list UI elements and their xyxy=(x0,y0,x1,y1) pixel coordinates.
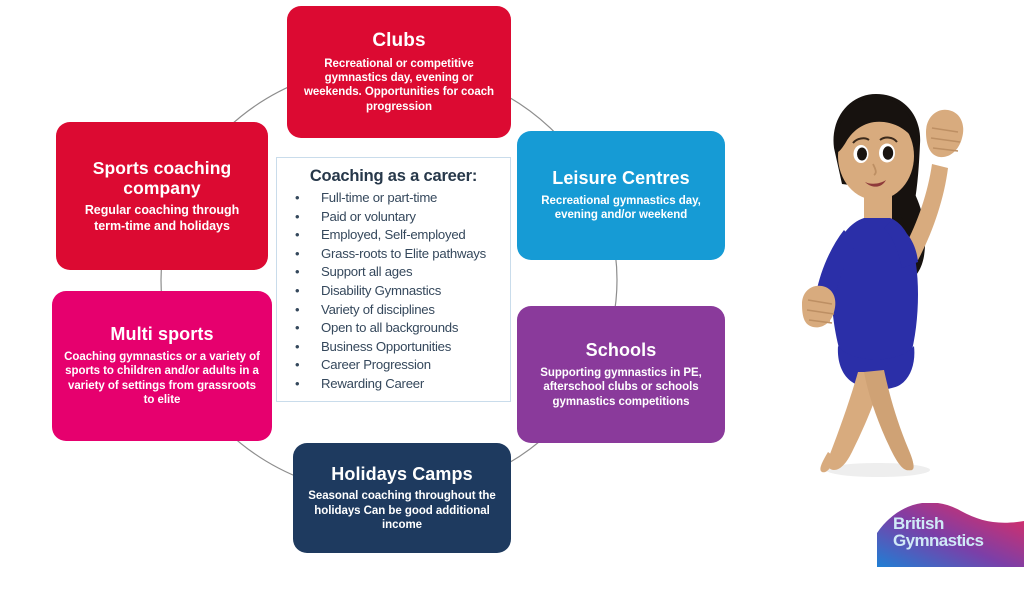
node-clubs-description: Recreational or competitive gymnastics d… xyxy=(299,57,499,115)
british-gymnastics-logo: British Gymnastics xyxy=(877,503,1024,567)
bullet-icon: • xyxy=(295,189,299,208)
node-sports-coaching-company-title: Sports coaching company xyxy=(68,158,256,198)
node-sports-coaching-company-description: Regular coaching through term-time and h… xyxy=(68,203,256,234)
logo-shape xyxy=(877,503,1024,567)
node-schools[interactable]: Schools Supporting gymnastics in PE, aft… xyxy=(517,306,725,443)
center-card-title: Coaching as a career: xyxy=(283,167,504,186)
list-item-label: Support all ages xyxy=(321,264,412,279)
node-multi-sports-title: Multi sports xyxy=(110,324,213,345)
list-item-label: Career Progression xyxy=(321,357,431,372)
node-multi-sports[interactable]: Multi sports Coaching gymnastics or a va… xyxy=(52,291,272,441)
bullet-icon: • xyxy=(295,356,299,375)
eye-left-pupil xyxy=(857,148,867,161)
bullet-icon: • xyxy=(295,282,299,301)
bullet-icon: • xyxy=(295,375,299,394)
node-holidays-camps[interactable]: Holidays Camps Seasonal coaching through… xyxy=(293,443,511,553)
node-leisure-centres-title: Leisure Centres xyxy=(552,168,690,189)
gymnast-illustration xyxy=(772,72,982,492)
node-clubs-title: Clubs xyxy=(372,30,425,52)
node-schools-title: Schools xyxy=(586,340,657,361)
node-clubs[interactable]: Clubs Recreational or competitive gymnas… xyxy=(287,6,511,138)
eye-right-pupil xyxy=(883,146,893,160)
node-leisure-centres[interactable]: Leisure Centres Recreational gymnastics … xyxy=(517,131,725,260)
list-item: •Full-time or part-time xyxy=(287,189,504,208)
node-sports-coaching-company[interactable]: Sports coaching company Regular coaching… xyxy=(56,122,268,270)
bullet-icon: • xyxy=(295,319,299,338)
bullet-icon: • xyxy=(295,245,299,264)
list-item-label: Business Opportunities xyxy=(321,339,451,354)
bullet-icon: • xyxy=(295,263,299,282)
list-item: •Business Opportunities xyxy=(287,338,504,357)
center-card-coaching-as-a-career: Coaching as a career: •Full-time or part… xyxy=(276,157,511,402)
center-card-bullet-list: •Full-time or part-time •Paid or volunta… xyxy=(283,189,504,394)
list-item-label: Employed, Self-employed xyxy=(321,227,466,242)
list-item-label: Rewarding Career xyxy=(321,376,424,391)
node-multi-sports-description: Coaching gymnastics or a variety of spor… xyxy=(64,350,260,408)
list-item: •Open to all backgrounds xyxy=(287,319,504,338)
list-item: •Support all ages xyxy=(287,263,504,282)
list-item: •Variety of disciplines xyxy=(287,301,504,320)
bullet-icon: • xyxy=(295,226,299,245)
list-item: •Rewarding Career xyxy=(287,375,504,394)
list-item-label: Variety of disciplines xyxy=(321,302,435,317)
list-item-label: Grass-roots to Elite pathways xyxy=(321,246,486,261)
list-item-label: Full-time or part-time xyxy=(321,190,437,205)
logo-swoosh xyxy=(877,503,1024,567)
list-item-label: Disability Gymnastics xyxy=(321,283,441,298)
node-schools-description: Supporting gymnastics in PE, afterschool… xyxy=(529,366,713,409)
bullet-icon: • xyxy=(295,208,299,227)
list-item-label: Open to all backgrounds xyxy=(321,320,458,335)
list-item: •Career Progression xyxy=(287,356,504,375)
list-item: •Grass-roots to Elite pathways xyxy=(287,245,504,264)
list-item-label: Paid or voluntary xyxy=(321,209,416,224)
slide-canvas: Clubs Recreational or competitive gymnas… xyxy=(0,0,1024,593)
node-holidays-camps-description: Seasonal coaching throughout the holiday… xyxy=(305,489,499,532)
node-holidays-camps-title: Holidays Camps xyxy=(331,464,472,485)
list-item: •Disability Gymnastics xyxy=(287,282,504,301)
bullet-icon: • xyxy=(295,338,299,357)
bullet-icon: • xyxy=(295,301,299,320)
list-item: •Employed, Self-employed xyxy=(287,226,504,245)
node-leisure-centres-description: Recreational gymnastics day, evening and… xyxy=(529,194,713,223)
list-item: •Paid or voluntary xyxy=(287,208,504,227)
